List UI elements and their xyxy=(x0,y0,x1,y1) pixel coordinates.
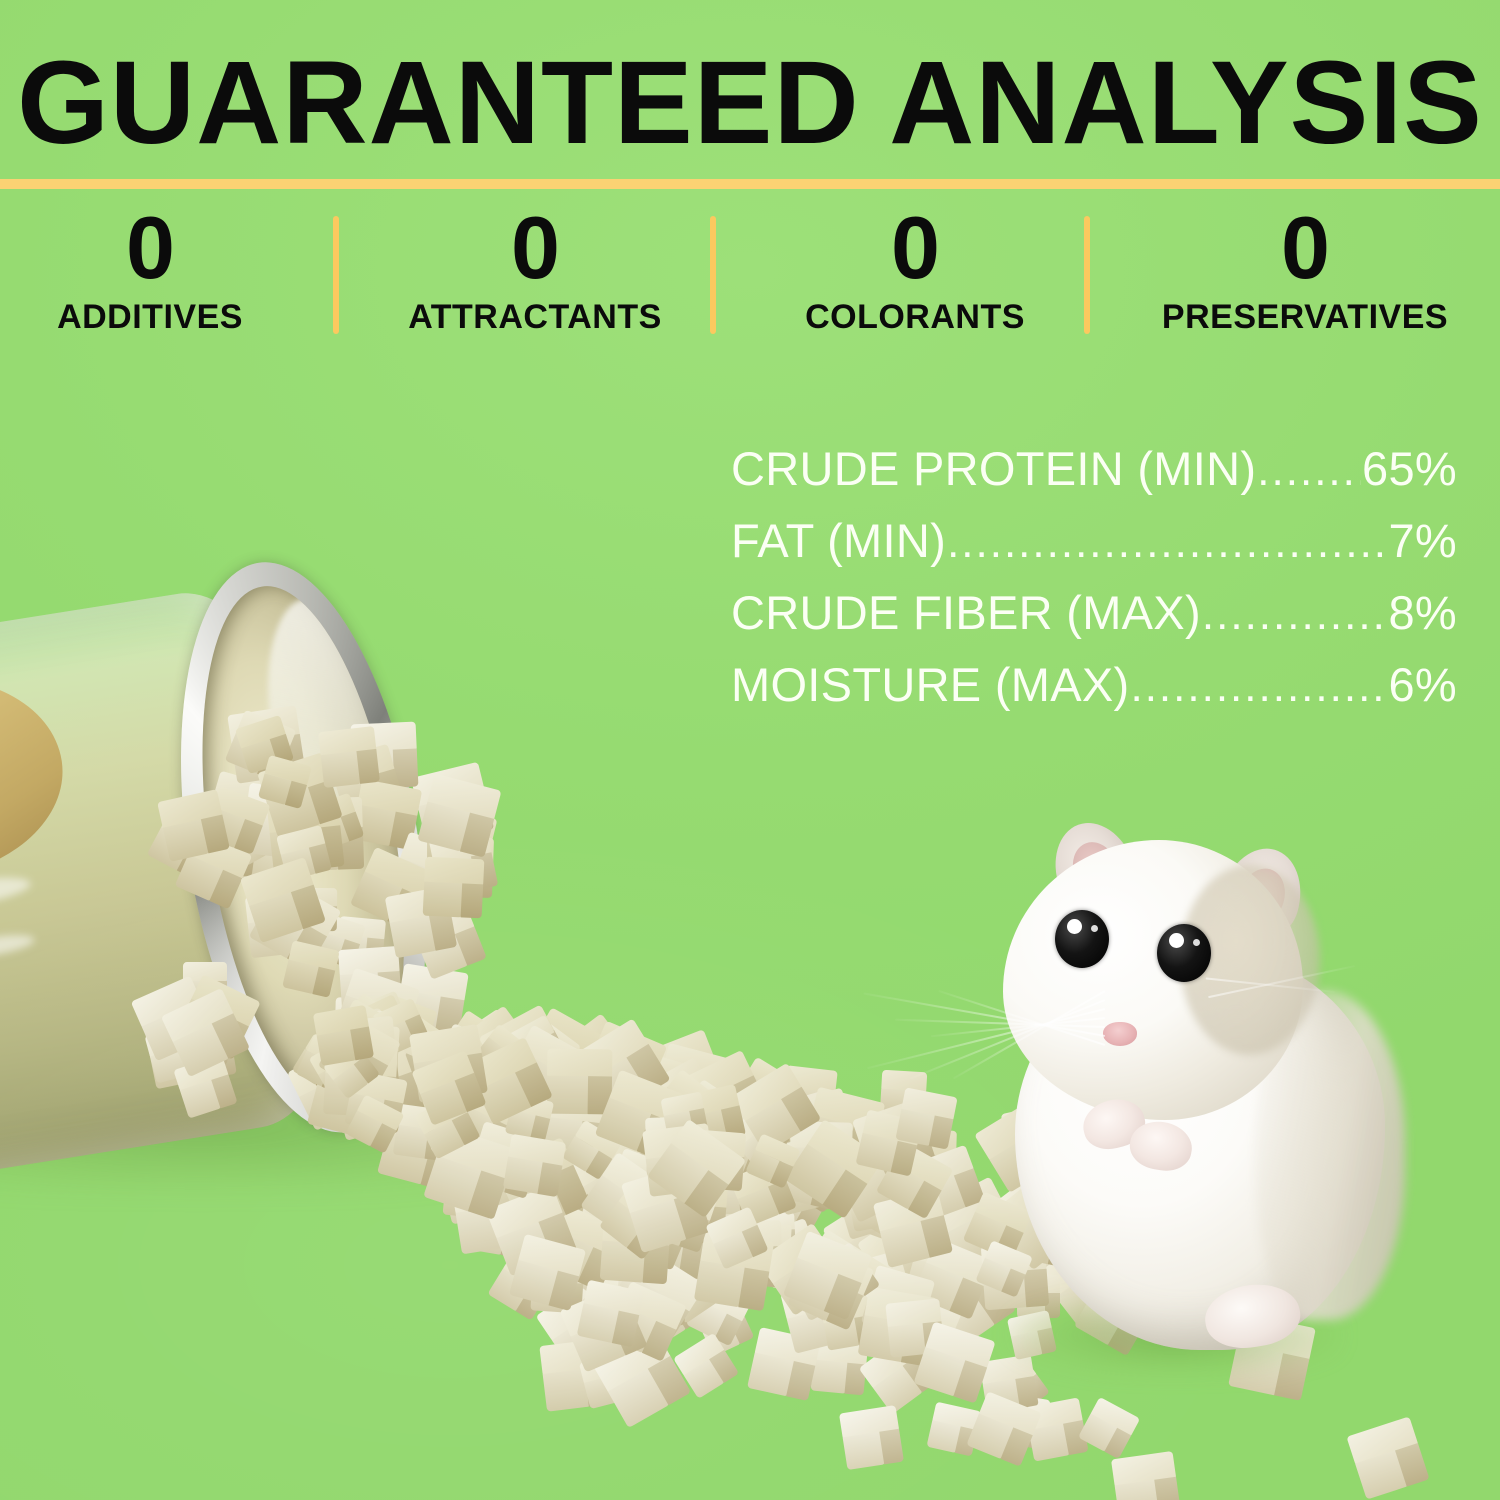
jar-mouth-highlight xyxy=(252,589,400,853)
analysis-row: MOISTURE (MAX) .................... 6% xyxy=(731,656,1457,728)
stat-value: 0 xyxy=(0,200,320,296)
analysis-row: CRUDE PROTEIN (MIN) ......... 65% xyxy=(731,440,1457,512)
hamster-photo xyxy=(955,800,1425,1360)
stat-label: ADDITIVES xyxy=(0,298,320,336)
analysis-nutrient-name: FAT (MIN) xyxy=(731,512,946,570)
stat-label: PRESERVATIVES xyxy=(1135,298,1475,336)
analysis-leader-dots: .................... xyxy=(1130,658,1387,716)
hamster-nose xyxy=(1103,1022,1137,1046)
analysis-nutrient-value: 65% xyxy=(1362,440,1457,498)
analysis-row: CRUDE FIBER (MAX) ................ 8% xyxy=(731,584,1457,656)
stat-value: 0 xyxy=(745,200,1085,296)
guaranteed-analysis-list: CRUDE PROTEIN (MIN) ......... 65% FAT (M… xyxy=(731,440,1457,728)
analysis-leader-dots: ................................ xyxy=(947,514,1387,572)
stat-attractants: 0 ATTRACTANTS xyxy=(365,200,705,336)
stat-colorants: 0 COLORANTS xyxy=(745,200,1085,336)
analysis-row: FAT (MIN) ..............................… xyxy=(731,512,1457,584)
analysis-leader-dots: ................ xyxy=(1202,586,1388,644)
stats-row: 0 ADDITIVES 0 ATTRACTANTS 0 COLORANTS 0 … xyxy=(0,200,1500,345)
jar-kraft-label xyxy=(0,657,77,906)
hamster-eye-right xyxy=(1157,924,1211,982)
analysis-nutrient-name: CRUDE FIBER (MAX) xyxy=(731,584,1201,642)
stat-preservatives: 0 PRESERVATIVES xyxy=(1135,200,1475,336)
analysis-nutrient-value: 7% xyxy=(1388,512,1457,570)
stat-value: 0 xyxy=(1135,200,1475,296)
hamster-eye-left xyxy=(1055,910,1109,968)
analysis-nutrient-name: MOISTURE (MAX) xyxy=(731,656,1129,714)
stat-label: ATTRACTANTS xyxy=(365,298,705,336)
stat-divider-2 xyxy=(710,216,716,334)
analysis-nutrient-name: CRUDE PROTEIN (MIN) xyxy=(731,440,1256,498)
product-infographic: GUARANTEED ANALYSIS 0 ADDITIVES 0 ATTRAC… xyxy=(0,0,1500,1500)
stat-additives: 0 ADDITIVES xyxy=(0,200,320,336)
analysis-nutrient-value: 6% xyxy=(1388,656,1457,714)
page-title: GUARANTEED ANALYSIS xyxy=(0,44,1500,162)
glass-highlight xyxy=(0,871,33,920)
stat-value: 0 xyxy=(365,200,705,296)
title-divider-rule xyxy=(0,179,1500,189)
stat-divider-3 xyxy=(1084,216,1090,334)
stat-label: COLORANTS xyxy=(745,298,1085,336)
analysis-nutrient-value: 8% xyxy=(1388,584,1457,642)
analysis-leader-dots: ......... xyxy=(1257,442,1361,500)
glass-highlight xyxy=(0,931,36,963)
stat-divider-1 xyxy=(333,216,339,334)
